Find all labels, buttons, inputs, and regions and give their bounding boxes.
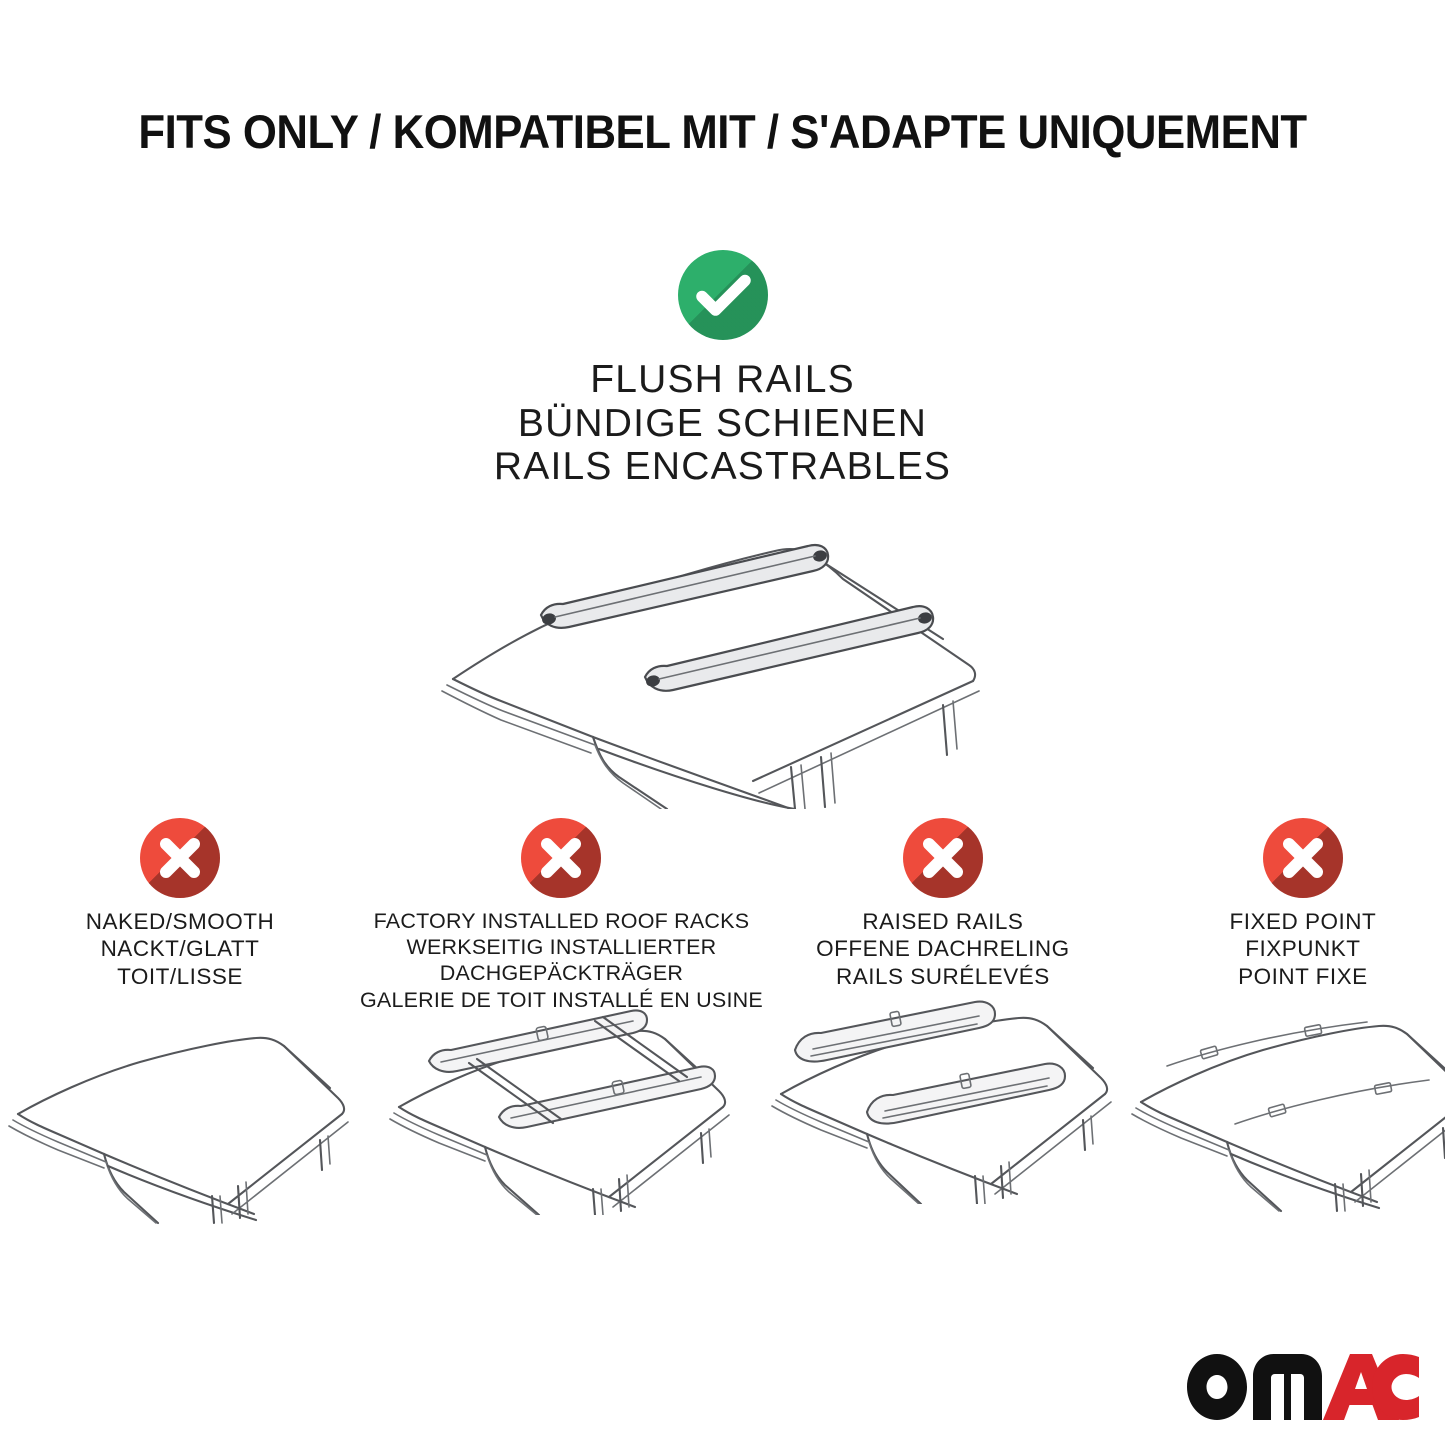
column-label-en: FIXED POINT: [1230, 908, 1377, 935]
approved-labels: FLUSH RAILS BÜNDIGE SCHIENEN RAILS ENCAS…: [494, 358, 951, 489]
column-labels: FACTORY INSTALLED ROOF RACKS WERKSEITIG …: [360, 908, 763, 1013]
car-roof-bare-illustration: [0, 1018, 360, 1228]
x-circle-icon: [521, 818, 601, 898]
rejected-column-raised-rails: RAISED RAILS OFFENE DACHRELING RAILS SUR…: [763, 818, 1123, 1204]
x-circle-icon: [903, 818, 983, 898]
car-roof-crossbars-illustration: [381, 1005, 741, 1215]
approved-fitment-block: FLUSH RAILS BÜNDIGE SCHIENEN RAILS ENCAS…: [0, 250, 1445, 809]
rejected-column-fixed-point: FIXED POINT FIXPUNKT POINT FIXE: [1123, 818, 1445, 1216]
x-circle-icon: [140, 818, 220, 898]
x-mark-glyph: [903, 818, 983, 898]
column-label-en: NAKED/SMOOTH: [86, 908, 275, 935]
approved-label-en: FLUSH RAILS: [494, 358, 951, 402]
check-mark-glyph: [678, 250, 768, 340]
x-mark-glyph: [1263, 818, 1343, 898]
column-label-en: FACTORY INSTALLED ROOF RACKS: [360, 908, 763, 934]
page-title: FITS ONLY / KOMPATIBEL MIT / S'ADAPTE UN…: [51, 104, 1395, 159]
column-label-fr: RAILS SURÉLEVÉS: [816, 963, 1070, 990]
x-circle-icon: [1263, 818, 1343, 898]
x-mark-glyph: [521, 818, 601, 898]
logo-letter-m: [1253, 1354, 1322, 1420]
column-labels: NAKED/SMOOTH NACKT/GLATT TOIT/LISSE: [86, 908, 275, 990]
column-label-de: OFFENE DACHRELING: [816, 935, 1070, 962]
rejected-column-factory-roof-racks: FACTORY INSTALLED ROOF RACKS WERKSEITIG …: [360, 818, 763, 1215]
column-label-de-1: WERKSEITIG INSTALLIERTER: [360, 934, 763, 960]
column-label-fr: TOIT/LISSE: [86, 963, 275, 990]
rejected-column-naked-smooth: NAKED/SMOOTH NACKT/GLATT TOIT/LISSE: [0, 818, 360, 1228]
column-label-fr: POINT FIXE: [1230, 963, 1377, 990]
car-roof-flush-rails-illustration: [423, 509, 1023, 809]
column-labels: RAISED RAILS OFFENE DACHRELING RAILS SUR…: [816, 908, 1070, 990]
logo-letter-o: [1187, 1354, 1247, 1420]
approved-label-fr: RAILS ENCASTRABLES: [494, 445, 951, 489]
x-mark-glyph: [140, 818, 220, 898]
omac-logo: [1187, 1354, 1419, 1420]
rejected-fitment-grid: NAKED/SMOOTH NACKT/GLATT TOIT/LISSE: [0, 818, 1445, 1228]
column-label-de: FIXPUNKT: [1230, 935, 1377, 962]
column-label-de-2: DACHGEPÄCKTRÄGER: [360, 960, 763, 986]
column-label-de: NACKT/GLATT: [86, 935, 275, 962]
approved-label-de: BÜNDIGE SCHIENEN: [494, 402, 951, 446]
car-roof-raised-rails-illustration: [763, 994, 1123, 1204]
product-fitment-infographic: FITS ONLY / KOMPATIBEL MIT / S'ADAPTE UN…: [0, 0, 1445, 1445]
column-label-en: RAISED RAILS: [816, 908, 1070, 935]
column-labels: FIXED POINT FIXPUNKT POINT FIXE: [1230, 908, 1377, 990]
check-circle-icon: [678, 250, 768, 340]
car-roof-fixed-points-illustration: [1123, 1006, 1445, 1216]
